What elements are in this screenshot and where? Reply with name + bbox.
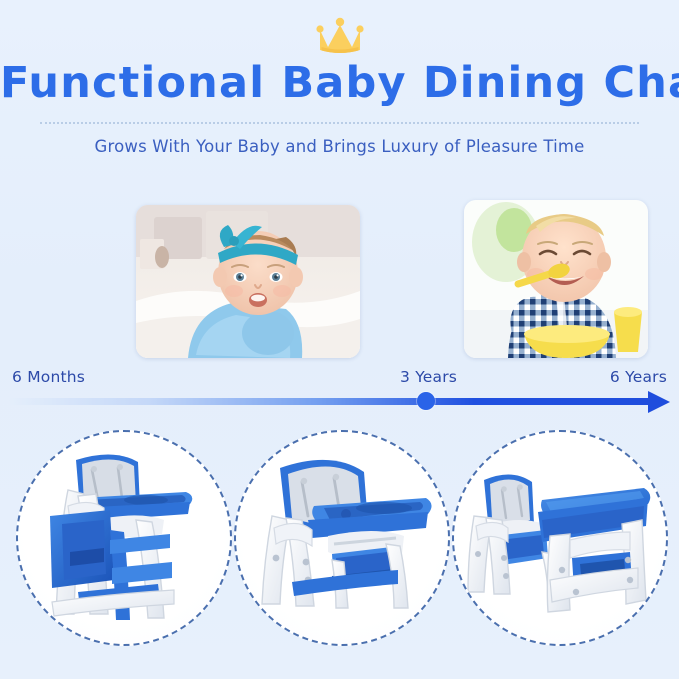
page-title: Functional Baby Dining Chair (0, 55, 679, 111)
title-divider (40, 122, 639, 126)
baby-with-headband-photo (136, 205, 360, 358)
timeline-label-middle: 3 Years (400, 368, 457, 386)
crown-icon (0, 16, 679, 56)
table-and-chair-mode (452, 430, 668, 646)
high-chair-mode (16, 430, 232, 646)
timeline-track (8, 398, 656, 405)
timeline-label-end: 6 Years (610, 368, 667, 386)
low-chair-mode (234, 430, 450, 646)
timeline-label-start: 6 Months (12, 368, 85, 386)
page-subtitle: Grows With Your Baby and Brings Luxury o… (0, 134, 679, 160)
timeline-marker-dot (417, 392, 435, 410)
infographic-canvas: Functional Baby Dining Chair Grows With … (0, 0, 679, 679)
toddler-eating-photo (464, 200, 648, 358)
timeline-arrow-icon (648, 391, 670, 413)
